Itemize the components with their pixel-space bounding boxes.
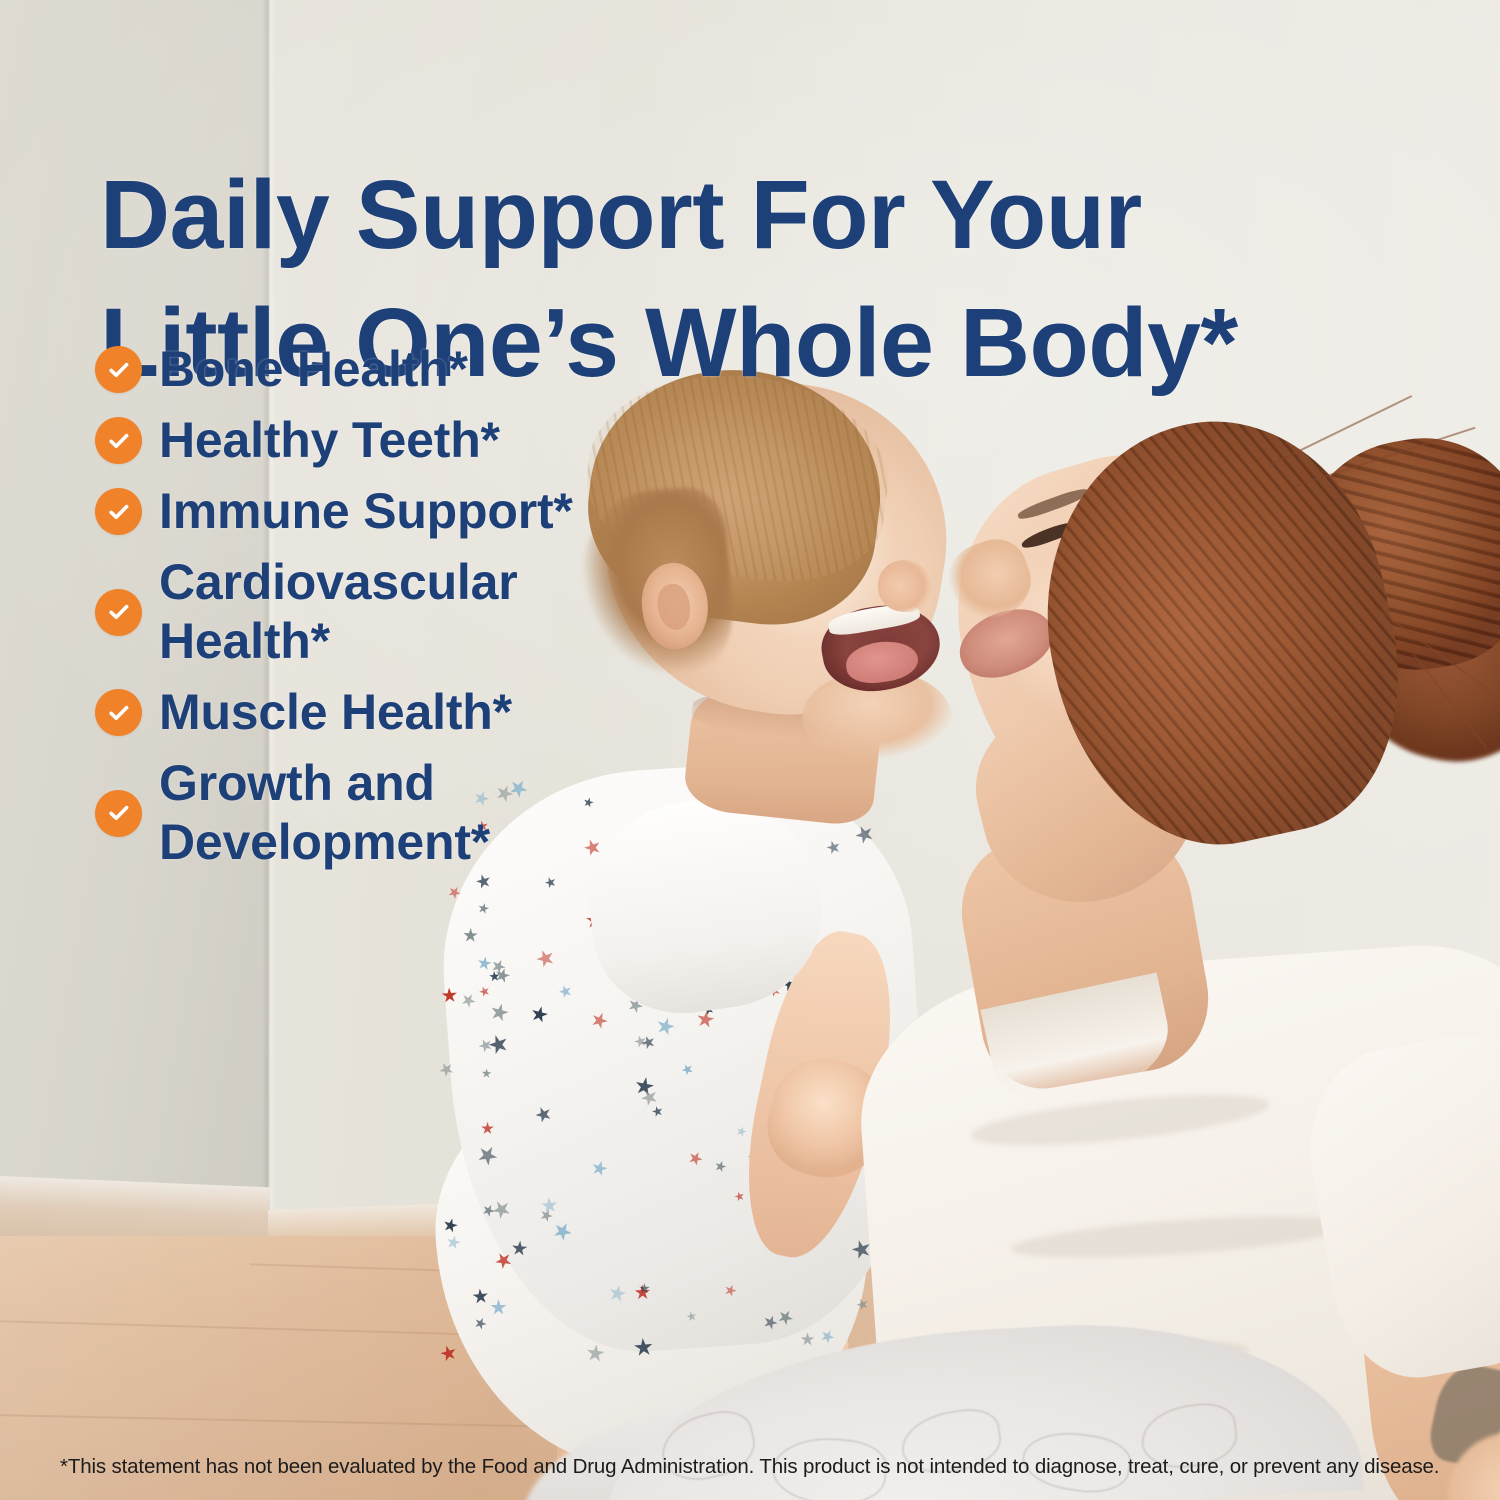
benefit-label: Growth and Development*	[159, 754, 679, 872]
onesie-star	[477, 1037, 495, 1055]
onesie-star	[855, 1297, 870, 1312]
onesie-star	[713, 1159, 728, 1174]
onesie-star	[686, 1149, 705, 1168]
benefit-label: Healthy Teeth*	[159, 411, 500, 470]
onesie-star	[734, 1191, 746, 1203]
onesie-star	[446, 884, 463, 901]
check-circle-icon	[95, 790, 142, 837]
onesie-star	[476, 955, 493, 972]
onesie-star	[472, 1288, 489, 1305]
fda-disclaimer: *This statement has not been evaluated b…	[60, 1455, 1460, 1480]
benefits-list: Bone Health*Healthy Teeth*Immune Support…	[95, 340, 815, 884]
benefit-label: Bone Health*	[159, 340, 468, 399]
onesie-star	[761, 1313, 780, 1332]
check-circle-icon	[95, 589, 142, 636]
onesie-star	[775, 1307, 796, 1328]
onesie-star	[541, 1197, 559, 1215]
benefit-item-3: Cardiovascular Health*	[95, 553, 815, 671]
onesie-star	[493, 1249, 516, 1272]
onesie-star	[474, 1142, 501, 1169]
onesie-star	[481, 1122, 494, 1135]
onesie-star	[481, 1068, 492, 1079]
check-circle-icon	[95, 488, 142, 535]
onesie-star	[680, 1061, 696, 1077]
onesie-star	[589, 1159, 608, 1178]
onesie-star	[589, 1010, 611, 1032]
onesie-star	[478, 984, 492, 998]
onesie-star	[441, 987, 458, 1004]
onesie-star	[534, 947, 557, 970]
onesie-star	[686, 1311, 698, 1323]
onesie-star	[438, 1344, 458, 1364]
onesie-star	[445, 1234, 462, 1251]
onesie-star	[852, 822, 877, 847]
onesie-star	[635, 1284, 651, 1300]
onesie-star	[735, 1125, 748, 1138]
onesie-star	[489, 1196, 514, 1221]
onesie-star	[607, 1283, 628, 1304]
baby-nose	[878, 560, 932, 612]
benefit-item-4: Muscle Health*	[95, 683, 815, 742]
onesie-star	[633, 1034, 648, 1049]
onesie-star	[550, 1219, 575, 1244]
check-circle-icon	[95, 346, 142, 393]
onesie-star	[825, 839, 842, 856]
onesie-star	[819, 1327, 837, 1345]
promo-image: Daily Support For Your Little One’s Whol…	[0, 0, 1500, 1500]
onesie-star	[490, 1300, 507, 1317]
onesie-star	[585, 1343, 605, 1363]
onesie-star	[473, 1316, 489, 1332]
check-circle-icon	[95, 689, 142, 736]
onesie-star	[651, 1105, 664, 1118]
check-circle-icon	[95, 417, 142, 464]
onesie-star	[459, 991, 479, 1011]
onesie-star	[723, 1283, 739, 1299]
headline-line-1: Daily Support For Your	[100, 151, 1440, 279]
onesie-star	[437, 1059, 457, 1079]
benefit-item-2: Immune Support*	[95, 482, 815, 541]
onesie-star	[486, 1032, 511, 1057]
benefit-label: Muscle Health*	[159, 683, 512, 742]
benefit-label: Immune Support*	[159, 482, 573, 541]
onesie-star	[463, 928, 478, 943]
onesie-star	[533, 1104, 554, 1125]
benefit-label: Cardiovascular Health*	[159, 553, 679, 671]
onesie-star	[441, 1216, 459, 1234]
onesie-star	[529, 1004, 550, 1025]
benefit-item-0: Bone Health*	[95, 340, 815, 399]
benefit-item-1: Healthy Teeth*	[95, 411, 815, 470]
onesie-star	[655, 1015, 677, 1037]
onesie-star	[477, 902, 490, 915]
onesie-star	[633, 1337, 654, 1358]
onesie-star	[801, 1333, 815, 1347]
onesie-star	[489, 1002, 511, 1024]
onesie-star	[511, 1240, 528, 1257]
benefit-item-5: Growth and Development*	[95, 754, 815, 872]
onesie-star	[696, 1009, 716, 1029]
onesie-star	[557, 983, 574, 1000]
